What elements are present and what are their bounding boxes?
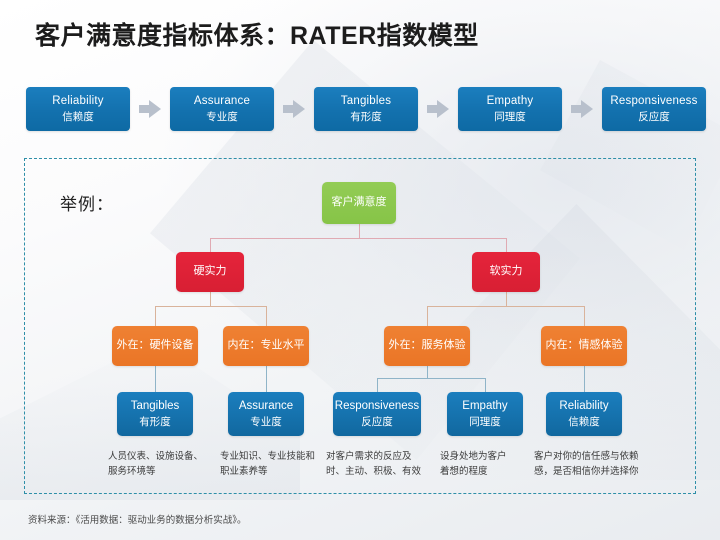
caption-assurance: 专业知识、专业技能和职业素养等 bbox=[220, 450, 316, 479]
rater-item-en: Reliability bbox=[52, 94, 103, 108]
rater-item-cn: 反应度 bbox=[638, 111, 670, 124]
rater-item-reliability[interactable]: Reliability 信赖度 bbox=[26, 87, 130, 131]
rater-strip: Reliability 信赖度 Assurance 专业度 Tangibles … bbox=[26, 86, 694, 132]
node-external-hardware[interactable]: 外在：硬件设备 bbox=[112, 326, 198, 366]
node-internal-emotional[interactable]: 内在：情感体验 bbox=[541, 326, 627, 366]
connector-ext-svc-to-responsiveness bbox=[377, 378, 378, 392]
arrow-right-icon-1 bbox=[139, 100, 161, 118]
node-label-cn: 信赖度 bbox=[568, 416, 600, 429]
source-note: 资料来源：《活用数据：驱动业务的数据分析实战》。 bbox=[28, 512, 247, 526]
node-label-en: Reliability bbox=[559, 399, 608, 413]
rater-item-assurance[interactable]: Assurance 专业度 bbox=[170, 87, 274, 131]
caption-empathy: 设身处地为客户着想的程度 bbox=[440, 450, 512, 479]
connector-root-bus bbox=[210, 238, 506, 239]
rater-item-cn: 有形度 bbox=[350, 111, 382, 124]
rater-item-en: Empathy bbox=[487, 94, 534, 108]
node-soft-power[interactable]: 软实力 bbox=[472, 252, 540, 292]
connector-ext-svc-bus bbox=[377, 378, 485, 379]
connector-ext-svc-down bbox=[427, 366, 428, 378]
connector-hard-bus bbox=[155, 306, 266, 307]
connector-ext-hw-to-tangibles bbox=[155, 366, 156, 392]
node-label: 软实力 bbox=[490, 265, 523, 279]
caption-responsiveness: 对客户需求的反应及时、主动、积极、有效 bbox=[326, 450, 430, 479]
connector-root-down bbox=[359, 224, 360, 238]
arrow-right-icon-3 bbox=[427, 100, 449, 118]
node-label: 外在：服务体验 bbox=[389, 339, 466, 353]
connector-int-emo-to-reliability bbox=[584, 366, 585, 392]
node-leaf-tangibles[interactable]: Tangibles 有形度 bbox=[117, 392, 193, 436]
rater-item-responsiveness[interactable]: Responsiveness 反应度 bbox=[602, 87, 706, 131]
node-leaf-responsiveness[interactable]: Responsiveness 反应度 bbox=[333, 392, 421, 436]
node-label-cn: 反应度 bbox=[361, 416, 393, 429]
connector-soft-bus bbox=[427, 306, 584, 307]
node-label: 外在：硬件设备 bbox=[117, 339, 194, 353]
caption-tangibles: 人员仪表、设施设备、服务环境等 bbox=[108, 450, 204, 479]
connector-soft-to-ext bbox=[427, 306, 428, 326]
rater-item-en: Tangibles bbox=[341, 94, 391, 108]
connector-int-prof-to-assurance bbox=[266, 366, 267, 392]
arrow-right-icon-4 bbox=[571, 100, 593, 118]
node-label-cn: 有形度 bbox=[139, 416, 171, 429]
node-label: 内在：情感体验 bbox=[546, 339, 623, 353]
page-title: 客户满意度指标体系：RATER指数模型 bbox=[35, 16, 479, 52]
caption-reliability: 客户对你的信任感与依赖感，是否相信你并选择你 bbox=[534, 450, 656, 479]
node-label-cn: 同理度 bbox=[469, 416, 501, 429]
node-label-en: Tangibles bbox=[131, 399, 180, 413]
rater-item-cn: 信赖度 bbox=[62, 111, 94, 124]
connector-hard-to-ext bbox=[155, 306, 156, 326]
node-label: 客户满意度 bbox=[332, 196, 387, 210]
connector-hard-down bbox=[210, 292, 211, 306]
node-hard-power[interactable]: 硬实力 bbox=[176, 252, 244, 292]
slide-canvas: 客户满意度指标体系：RATER指数模型 Reliability 信赖度 Assu… bbox=[0, 0, 720, 540]
connector-root-to-hard bbox=[210, 238, 211, 252]
node-customer-satisfaction[interactable]: 客户满意度 bbox=[322, 182, 396, 224]
node-internal-professional[interactable]: 内在：专业水平 bbox=[223, 326, 309, 366]
node-label-cn: 专业度 bbox=[250, 416, 282, 429]
rater-item-en: Responsiveness bbox=[610, 94, 697, 108]
arrow-right-icon-2 bbox=[283, 100, 305, 118]
node-label: 内在：专业水平 bbox=[228, 339, 305, 353]
rater-item-cn: 专业度 bbox=[206, 111, 238, 124]
node-label-en: Empathy bbox=[462, 399, 507, 413]
rater-item-cn: 同理度 bbox=[494, 111, 526, 124]
node-label: 硬实力 bbox=[194, 265, 227, 279]
rater-item-empathy[interactable]: Empathy 同理度 bbox=[458, 87, 562, 131]
connector-soft-down bbox=[506, 292, 507, 306]
connector-root-to-soft bbox=[506, 238, 507, 252]
connector-soft-to-int bbox=[584, 306, 585, 326]
rater-item-en: Assurance bbox=[194, 94, 250, 108]
node-leaf-assurance[interactable]: Assurance 专业度 bbox=[228, 392, 304, 436]
example-label: 举例： bbox=[60, 190, 114, 215]
node-external-service[interactable]: 外在：服务体验 bbox=[384, 326, 470, 366]
connector-ext-svc-to-empathy bbox=[485, 378, 486, 392]
connector-hard-to-int bbox=[266, 306, 267, 326]
node-label-en: Assurance bbox=[239, 399, 293, 413]
node-leaf-empathy[interactable]: Empathy 同理度 bbox=[447, 392, 523, 436]
rater-item-tangibles[interactable]: Tangibles 有形度 bbox=[314, 87, 418, 131]
node-label-en: Responsiveness bbox=[335, 399, 419, 413]
node-leaf-reliability[interactable]: Reliability 信赖度 bbox=[546, 392, 622, 436]
